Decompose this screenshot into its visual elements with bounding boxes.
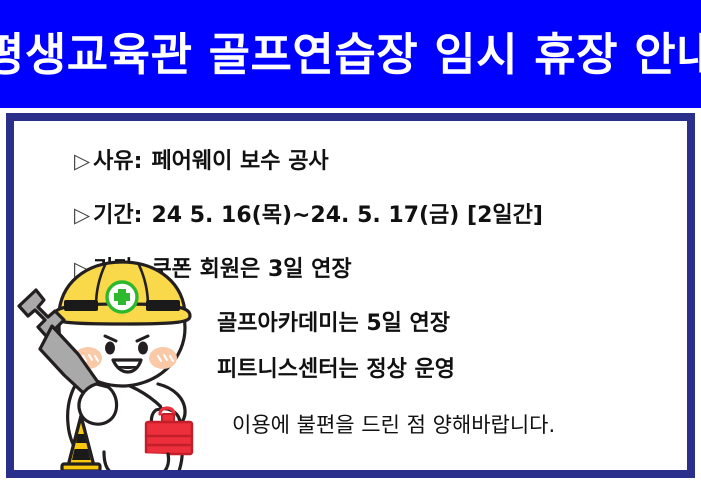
triangle-bullet-icon: ▷ — [74, 205, 90, 226]
header-banner: 평생교육관 골프연습장 임시 휴장 안내 — [0, 0, 701, 108]
closing-apology: 이용에 불편을 드린 점 양해바랍니다. — [232, 409, 555, 439]
hard-hat-icon — [54, 262, 190, 324]
notice-frame-inner: ▷ 사유: 페어웨이 보수 공사 ▷ 기간: 24 5. 16(목)~24. 5… — [14, 121, 687, 470]
notice-item-value: 페어웨이 보수 공사 — [151, 143, 328, 175]
green-cross-badge-icon — [107, 282, 137, 312]
notice-subitem-fitness: 피트니스센터는 정상 운영 — [217, 351, 674, 383]
notice-item-label: 사유: — [93, 143, 142, 175]
page-title: 평생교육관 골프연습장 임시 휴장 안내 — [0, 32, 701, 77]
mascot-left-arm — [79, 384, 117, 424]
notice-item-reason: ▷ 사유: 페어웨이 보수 공사 — [74, 143, 674, 175]
mascot-legs — [104, 452, 169, 470]
mascot-svg — [14, 244, 223, 470]
notice-item-value: 24 5. 16(목)~24. 5. 17(금) [2일간] — [151, 197, 542, 229]
construction-worker-mascot — [14, 244, 223, 470]
triangle-bullet-icon: ▷ — [74, 151, 90, 172]
notice-item-label: 기간: — [93, 197, 142, 229]
notice-subitem-academy: 골프아카데미는 5일 연장 — [217, 305, 674, 337]
notice-frame: ▷ 사유: 페어웨이 보수 공사 ▷ 기간: 24 5. 16(목)~24. 5… — [6, 113, 695, 478]
notice-poster: 평생교육관 골프연습장 임시 휴장 안내 ▷ 사유: 페어웨이 보수 공사 ▷ … — [0, 0, 701, 484]
notice-item-period: ▷ 기간: 24 5. 16(목)~24. 5. 17(금) [2일간] — [74, 197, 674, 229]
